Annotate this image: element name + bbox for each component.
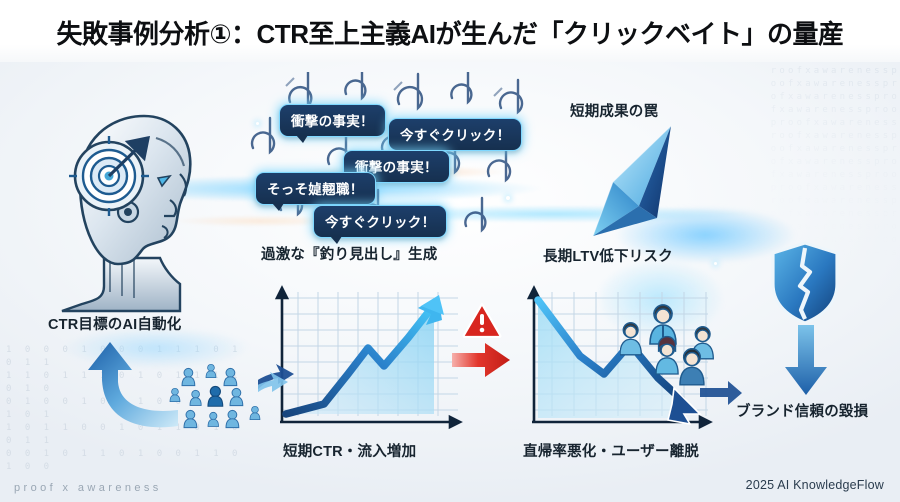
watermark-row: oofxawarenesspr bbox=[720, 78, 900, 91]
blue-3d-arrow-icon bbox=[583, 120, 703, 250]
people-group-icon bbox=[620, 300, 728, 388]
watermark-row: oofxawarenesspr bbox=[720, 208, 900, 221]
label-ltv-risk: 長期LTV低下リスク bbox=[543, 245, 673, 266]
clickbait-bubble-4[interactable]: そっそ媫翹職！ bbox=[255, 172, 376, 205]
binary-row: 0 0 1 0 1 1 0 1 0 0 1 1 0 1 0 0 bbox=[6, 448, 256, 474]
chart-short-term-ctr bbox=[258, 282, 473, 434]
label-ctr-increase: 短期CTR・流入増加 bbox=[283, 440, 416, 461]
watermark-row: fxawarenessproo bbox=[720, 169, 900, 182]
label-brand-damage: ブランド信頼の毀損 bbox=[736, 400, 868, 421]
robot-head-target-icon bbox=[52, 108, 232, 313]
page-title: 失敗事例分析①：CTR至上主義AIが生んだ「クリックベイト」の量産 bbox=[0, 14, 900, 51]
watermark-row: oofxawarenesspr bbox=[720, 143, 900, 156]
cracked-shield-icon bbox=[768, 240, 842, 326]
watermark-row: ofxawarenesspro bbox=[720, 221, 900, 234]
watermark-row: roofxawarenessp bbox=[720, 65, 900, 78]
clickbait-bubble-2[interactable]: 今すぐクリック！ bbox=[388, 118, 522, 151]
label-ai-automation: CTR目標のAI自動化 bbox=[48, 313, 182, 334]
warning-triangle-icon bbox=[462, 302, 502, 338]
people-group-icon bbox=[168, 362, 273, 436]
watermark-row: proofxawareness bbox=[720, 182, 900, 195]
footer-credit: 2025 AI KnowledgeFlow bbox=[746, 478, 884, 492]
red-right-arrow-icon bbox=[452, 340, 512, 380]
brand-wordmark: proof x awareness bbox=[14, 482, 162, 494]
watermark-word-grid: proofxawarenessroofxawarenesspoofxawaren… bbox=[720, 52, 900, 262]
watermark-row: roofxawarenessp bbox=[720, 130, 900, 143]
watermark-row: fxawarenessproo bbox=[720, 104, 900, 117]
spark-dot bbox=[714, 262, 717, 265]
clickbait-bubble-1[interactable]: 衝撃の事実！ bbox=[279, 104, 386, 137]
label-short-term-trap: 短期成果の罠 bbox=[570, 100, 658, 121]
clickbait-bubble-5[interactable]: 今すぐクリック！ bbox=[313, 205, 447, 238]
watermark-row: ofxawarenesspro bbox=[720, 91, 900, 104]
curved-feedback-arrow-icon bbox=[60, 340, 180, 440]
watermark-row: ofxawarenesspro bbox=[720, 156, 900, 169]
slide-canvas: proofxawarenessroofxawarenesspoofxawaren… bbox=[0, 0, 900, 502]
label-bounce-churn: 直帰率悪化・ユーザー離脱 bbox=[523, 440, 699, 461]
blue-down-arrow-icon bbox=[783, 325, 829, 397]
watermark-row: proofxawareness bbox=[720, 117, 900, 130]
watermark-row: roofxawarenessp bbox=[720, 195, 900, 208]
label-hook-generation: 過激な『釣り見出し』生成 bbox=[261, 243, 437, 264]
